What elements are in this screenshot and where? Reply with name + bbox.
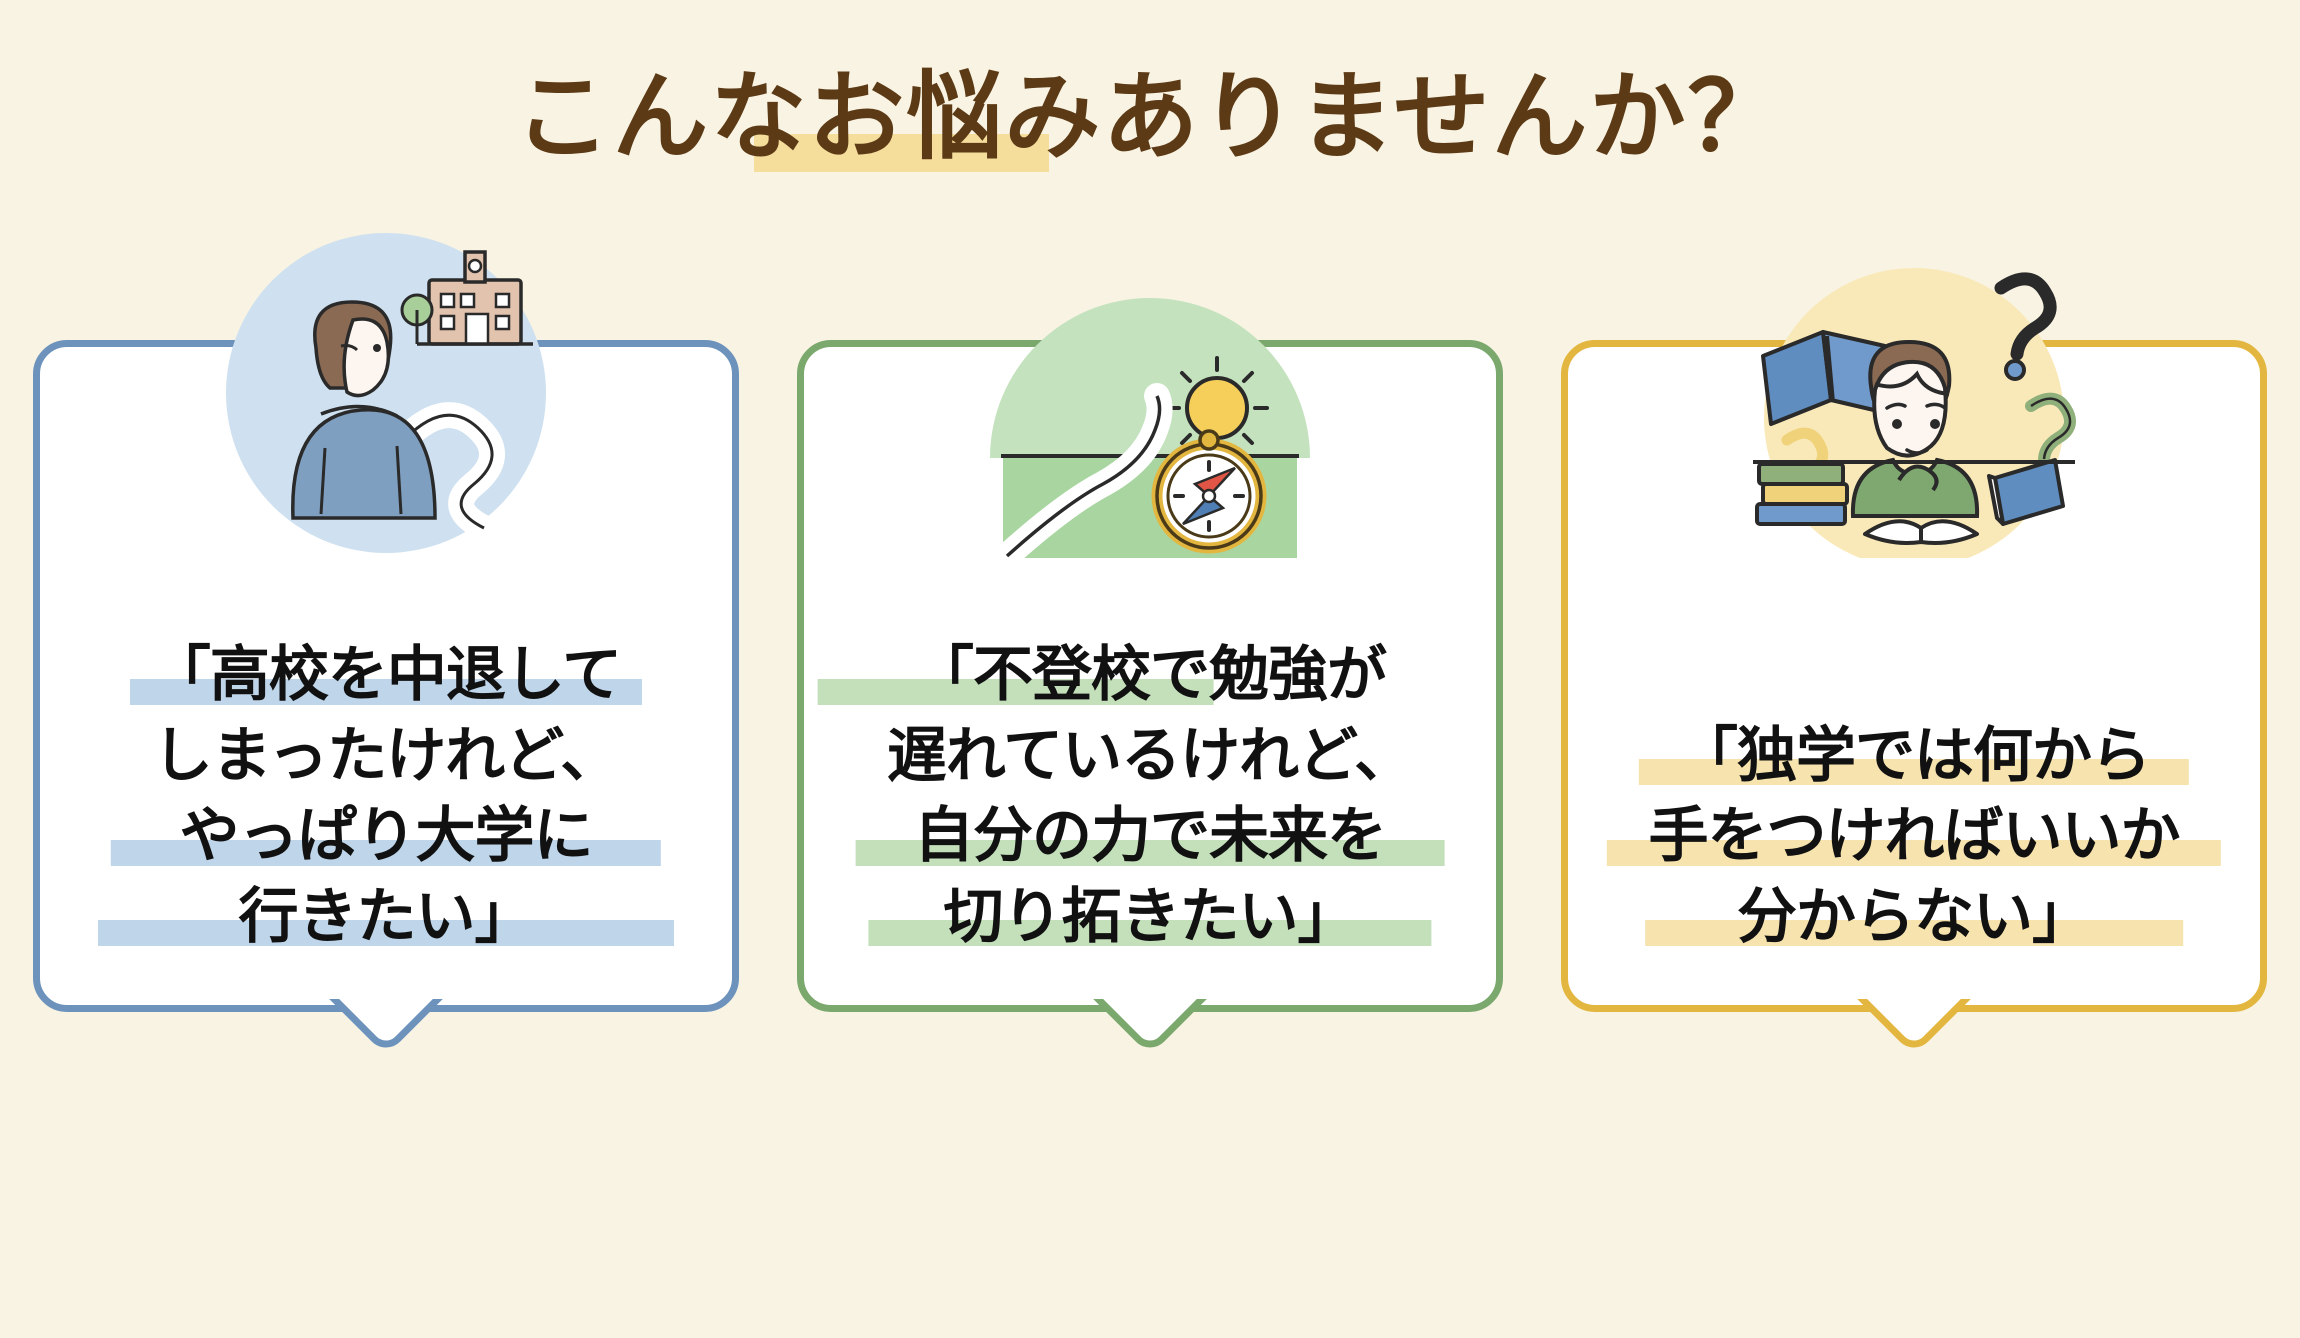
- quote-line: 「不登校で勉強が: [830, 635, 1470, 715]
- quote-line-text: 自分の力で未来を: [914, 801, 1386, 871]
- quote-line-text: 行きたい」: [239, 882, 534, 952]
- quote-line: 「高校を中退して: [66, 635, 706, 715]
- page-title: こんなお悩みありませんか？: [514, 62, 1785, 172]
- concern-bubble[interactable]: 「高校を中退して しまったけれど、 やっぱり大学に 行きたい」: [33, 340, 739, 1012]
- quote-line-text: しまったけれど、: [153, 721, 620, 791]
- quote-line-text: 「独学では何から: [1678, 721, 2150, 791]
- quote-line-text: 分からない」: [1737, 882, 2091, 952]
- concern-bubble[interactable]: 「独学では何から 手をつければいいか 分からない」: [1561, 340, 2267, 1012]
- quote-line: 行きたい」: [66, 877, 706, 957]
- concern-bubble[interactable]: 「不登校で勉強が 遅れているけれど、 自分の力で未来を 切り拓きたい」: [797, 340, 1503, 1012]
- concern-card-truancy: 「不登校で勉強が 遅れているけれど、 自分の力で未来を 切り拓きたい」: [797, 340, 1503, 1012]
- quote-line-text: 手をつければいいか: [1649, 801, 2180, 871]
- concern-card-dropout: 「高校を中退して しまったけれど、 やっぱり大学に 行きたい」: [33, 340, 739, 1012]
- quote-line: 自分の力で未来を: [830, 796, 1470, 876]
- bubble-tail: [1086, 999, 1214, 1055]
- page-title-text: こんなお悩みありませんか？: [514, 61, 1785, 173]
- bubble-tail: [1850, 999, 1978, 1055]
- quote-line: 切り拓きたい」: [830, 877, 1470, 957]
- quote-line: 「独学では何から: [1594, 716, 2234, 796]
- quote-line: しまったけれど、: [66, 716, 706, 796]
- quote-line: 遅れているけれど、: [830, 716, 1470, 796]
- quote-line: やっぱり大学に: [66, 796, 706, 876]
- quote-line: 分からない」: [1594, 877, 2234, 957]
- quote-text-block: 「不登校で勉強が 遅れているけれど、 自分の力で未来を 切り拓きたい」: [830, 635, 1470, 957]
- quote-text-block: 「独学では何から 手をつければいいか 分からない」: [1594, 716, 2234, 957]
- title-area: こんなお悩みありませんか？: [0, 62, 2300, 172]
- quote-line-text: 「不登校で勉強が: [914, 640, 1386, 710]
- concern-card-selfstudy: 「独学では何から 手をつければいいか 分からない」: [1561, 340, 2267, 1012]
- quote-line-text: 遅れているけれど、: [887, 721, 1413, 791]
- quote-line-text: やっぱり大学に: [180, 801, 593, 871]
- quote-line: 手をつければいいか: [1594, 796, 2234, 876]
- bubble-tail: [322, 999, 450, 1055]
- concern-card-list: 「高校を中退して しまったけれど、 やっぱり大学に 行きたい」: [0, 340, 2300, 1012]
- quote-line-text: 「高校を中退して: [151, 640, 621, 710]
- quote-text-block: 「高校を中退して しまったけれど、 やっぱり大学に 行きたい」: [66, 635, 706, 957]
- quote-line-text: 切り拓きたい」: [944, 882, 1357, 952]
